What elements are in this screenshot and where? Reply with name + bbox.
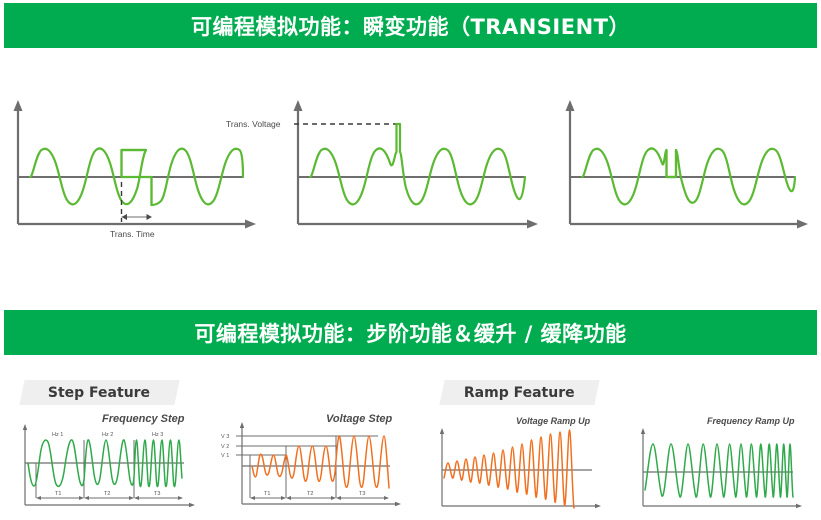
chart-voltage-step: Voltage Step V 3 V 2 V 1 T1 T2 T3 [218,408,418,516]
time-label-t2: T2 [104,491,110,497]
voltage-ramp-up-svg: Voltage Ramp Up [428,410,623,515]
time-arrow-t3-left [134,496,139,500]
chart-transient-notch [548,82,821,242]
level-label-hz3: Hz 3 [152,432,163,438]
time-label-t1: T1 [264,491,270,497]
y-axis-arrow [240,422,244,428]
section-title-step-ramp: 可编程模拟功能：步阶功能＆缓升 / 缓降功能 [194,318,626,348]
x-axis-arrow [797,220,808,229]
x-axis-arrow [189,503,195,507]
time-arrow-t1-right [281,496,286,500]
trans-time-arrow-left [122,214,128,220]
time-arrow-t1-left [250,496,255,500]
frequency-step-title: Frequency Step [102,413,185,425]
badge-step-feature-label: Step Feature [48,385,150,401]
waveform-spike [310,124,525,204]
section-header-transient: 可编程模拟功能：瞬变功能（TRANSIENT） [4,3,817,48]
level-label-hz1: Hz 1 [52,432,63,438]
chart-frequency-ramp-up: Frequency Ramp Up [625,410,821,515]
x-axis-arrow [796,504,802,508]
time-label-t2: T2 [307,491,313,497]
waveform-voltage-ramp [444,430,574,508]
y-axis-arrow [14,100,23,111]
waveform-frequency-ramp [645,444,793,497]
trans-time-label: Trans. Time [110,229,155,239]
time-arrow-t1-left [36,496,41,500]
time-arrow-t1-right [79,496,84,500]
chart-frequency-step: Frequency Step Hz 1 Hz 2 Hz 3 T1 T2 [12,410,212,515]
level-label-v1: V 1 [221,453,229,459]
transient-notch-svg [548,82,821,242]
level-label-hz2: Hz 2 [102,432,113,438]
x-axis-arrow [527,220,538,229]
time-arrow-t3-right [384,496,389,500]
y-axis-arrow [23,424,27,430]
chart-voltage-ramp-up: Voltage Ramp Up [428,410,623,515]
voltage-step-svg: Voltage Step V 3 V 2 V 1 T1 T2 T3 [218,408,418,516]
time-arrow-t2-left [84,496,89,500]
y-axis-arrow [294,100,303,111]
time-label-t3: T3 [154,491,160,497]
time-arrow-t2-left [286,496,291,500]
x-axis-arrow [595,504,601,508]
badge-step-feature: Step Feature [19,380,179,405]
y-axis-arrow [641,428,645,434]
frequency-ramp-up-title: Frequency Ramp Up [707,416,795,426]
x-axis-arrow [395,502,401,506]
frequency-step-svg: Frequency Step Hz 1 Hz 2 Hz 3 T1 T2 [12,410,212,515]
level-label-v2: V 2 [221,444,229,450]
waveform-voltage-step [252,436,389,488]
trans-time-arrow-right [147,214,153,220]
badge-ramp-feature: Ramp Feature [439,380,599,405]
level-label-v3: V 3 [221,434,229,440]
time-label-t3: T3 [359,491,365,497]
transient-spike-svg: Trans. Voltage [220,82,550,242]
time-arrow-t2-right [129,496,134,500]
badge-ramp-feature-label: Ramp Feature [464,385,575,401]
time-arrow-t3-left [336,496,341,500]
time-label-t1: T1 [55,491,61,497]
chart-transient-spike: Trans. Voltage [220,82,550,242]
y-axis-arrow [566,100,575,111]
section-header-step-ramp: 可编程模拟功能：步阶功能＆缓升 / 缓降功能 [4,310,817,355]
trans-voltage-label: Trans. Voltage [226,119,281,129]
y-axis-arrow [440,428,444,434]
voltage-step-title: Voltage Step [326,413,392,425]
voltage-ramp-up-title: Voltage Ramp Up [516,416,591,426]
time-arrow-t3-right [178,496,183,500]
time-arrow-t2-right [331,496,336,500]
section-title-transient: 可编程模拟功能：瞬变功能（TRANSIENT） [191,11,630,41]
frequency-ramp-up-svg: Frequency Ramp Up [625,410,821,515]
